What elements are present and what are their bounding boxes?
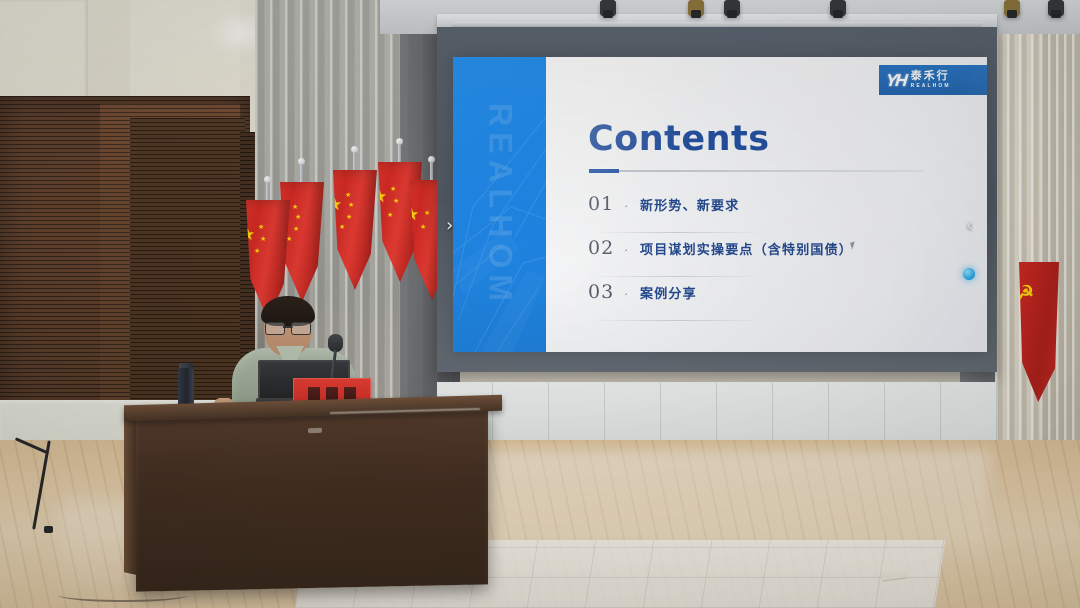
flag-pole	[353, 152, 356, 172]
ceiling-spotlight	[1048, 0, 1064, 16]
flag-star-small: ★	[292, 204, 298, 211]
glasses-lens	[291, 322, 311, 335]
toc-item: 03 · 案例分享	[588, 281, 987, 325]
floor-cable	[58, 588, 188, 602]
toc-item: 02 · 项目谋划实操要点（含特别国债）	[588, 237, 987, 281]
toc-item-underline	[598, 276, 758, 277]
projection-screen: REALHOM YH 泰禾行 REALHOM Contents 01 ·	[437, 27, 997, 372]
flag-star-small: ★	[420, 224, 426, 231]
prev-arrow-icon[interactable]: ›	[446, 217, 453, 235]
toc-item-label: 案例分享	[640, 283, 697, 302]
toc-item-number: 03	[588, 281, 624, 303]
flag-star-small: ★	[345, 192, 351, 199]
ceiling-spotlight	[1004, 0, 1020, 16]
title-divider	[589, 170, 924, 172]
desk-logo-plate	[308, 428, 322, 433]
toc-item-number: 01	[588, 193, 624, 215]
toc-item: 01 · 新形势、新要求	[588, 193, 987, 237]
ceiling-spotlight	[724, 0, 740, 16]
toc-item-label: 项目谋划实操要点（含特别国债）	[640, 239, 853, 258]
slide-title: Contents	[588, 119, 770, 159]
speaker-desk	[124, 400, 502, 590]
flag-star-small: ★	[387, 212, 393, 219]
flag-pole	[266, 182, 269, 202]
flag-star-small: ★	[390, 186, 396, 193]
flag-star-small: ★	[258, 224, 264, 231]
glasses-lens	[265, 322, 285, 335]
toc-item-separator: ·	[624, 242, 640, 257]
toc-item-underline	[598, 320, 758, 321]
flag-pole	[300, 164, 303, 184]
ceiling-spotlight	[688, 0, 704, 16]
mic-stand-pole	[32, 440, 51, 529]
ceiling-spotlight	[830, 0, 846, 16]
slide-accent-panel: REALHOM	[453, 57, 546, 352]
slide-content-panel: YH 泰禾行 REALHOM Contents 01 · 新形势、新要求	[546, 57, 987, 352]
flag-pole	[398, 144, 401, 164]
flag-star-small: ★	[295, 214, 301, 221]
flag-star-small: ★	[393, 198, 399, 205]
mic-stand-arm	[15, 437, 47, 454]
company-logo: YH 泰禾行 REALHOM	[879, 65, 987, 95]
flag-star-small: ★	[254, 248, 260, 255]
flag-pole	[430, 162, 433, 182]
logo-wordmark: 泰禾行 REALHOM	[911, 71, 951, 89]
flag-star-small: ★	[293, 226, 299, 233]
toc-item-label: 新形势、新要求	[640, 195, 739, 214]
eyeglasses-icon	[265, 322, 311, 333]
toc-item-number: 02	[588, 237, 624, 259]
logo-monogram-icon: YH	[885, 72, 906, 89]
desk-front-panel	[136, 408, 488, 591]
flag-star-small: ★	[424, 210, 430, 217]
floor-microphone-stand	[14, 440, 76, 550]
player-indicator-dot[interactable]	[963, 268, 975, 280]
slide-watermark: REALHOM	[481, 103, 518, 307]
logo-chinese-name: 泰禾行	[911, 71, 951, 82]
flag-star-small: ★	[339, 224, 345, 231]
toc-item-separator: ·	[624, 198, 640, 213]
logo-english-name: REALHOM	[911, 84, 951, 89]
next-arrow-icon[interactable]: ‹	[966, 217, 973, 235]
toc-item-separator: ·	[624, 286, 640, 301]
table-of-contents: 01 · 新形势、新要求 02 · 项目谋划实操要点（含特别国债） 03 ·	[588, 193, 987, 325]
mic-stand-foot	[44, 526, 53, 533]
ceiling-spotlight	[600, 0, 616, 16]
flag-star-small: ★	[346, 214, 352, 221]
conference-room-photo: ★ ★ ★ ★ ★ ★ ★ ★ ★ ★ ★ ★ ★ ★ ★	[0, 0, 1080, 608]
flag-star-small: ★	[348, 202, 354, 209]
flag-star-small: ★	[260, 236, 266, 243]
toc-item-underline	[598, 232, 758, 233]
presentation-slide: REALHOM YH 泰禾行 REALHOM Contents 01 ·	[453, 57, 987, 352]
